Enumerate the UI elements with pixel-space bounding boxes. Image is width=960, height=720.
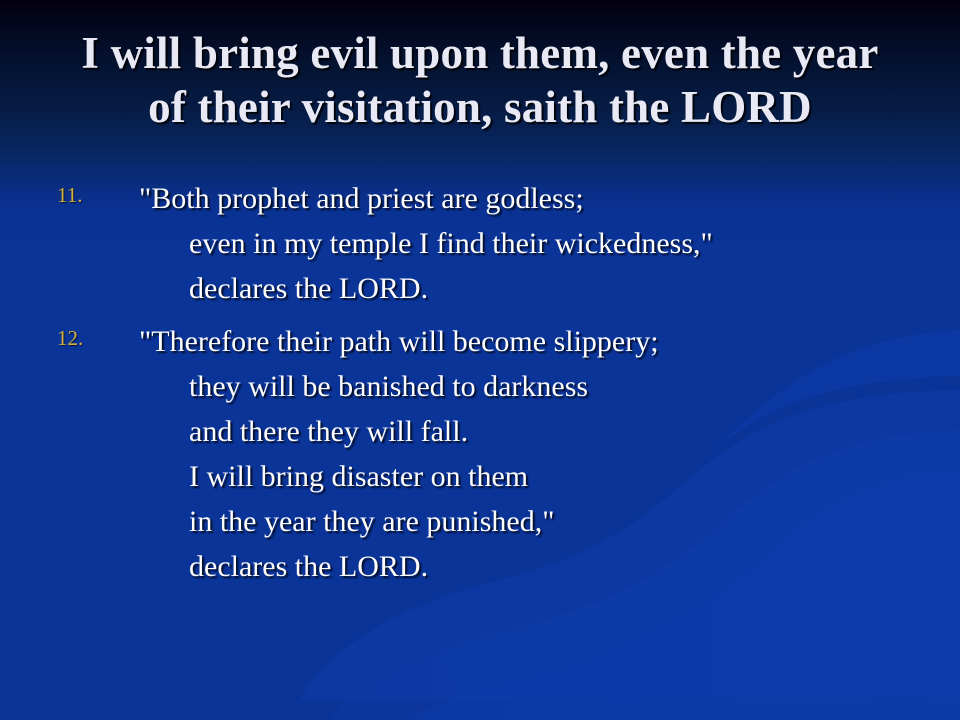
body-line: and there they will fall.: [139, 409, 940, 454]
body-line: declares the LORD.: [139, 266, 940, 311]
slide-canvas: I will bring evil upon them, even the ye…: [0, 0, 960, 720]
slide-title: I will bring evil upon them, even the ye…: [0, 26, 960, 134]
list-item: 11. "Both prophet and priest are godless…: [0, 176, 960, 311]
body-line: I will bring disaster on them: [139, 454, 940, 499]
slide-body: 11. "Both prophet and priest are godless…: [0, 176, 960, 597]
list-item-number: 11.: [57, 185, 117, 206]
body-line: "Both prophet and priest are godless;: [139, 176, 940, 221]
list-item-text: "Therefore their path will become slippe…: [139, 319, 960, 589]
body-line: declares the LORD.: [139, 544, 940, 589]
body-line: in the year they are punished,": [139, 499, 940, 544]
list-item-text: "Both prophet and priest are godless; ev…: [139, 176, 960, 311]
body-line: they will be banished to darkness: [139, 364, 940, 409]
title-line-2: of their visitation, saith the LORD: [0, 80, 960, 134]
list-item: 12. "Therefore their path will become sl…: [0, 319, 960, 589]
body-line: even in my temple I find their wickednes…: [139, 221, 940, 266]
list-item-number: 12.: [57, 328, 117, 349]
title-line-1: I will bring evil upon them, even the ye…: [0, 26, 960, 80]
body-line: "Therefore their path will become slippe…: [139, 319, 940, 364]
